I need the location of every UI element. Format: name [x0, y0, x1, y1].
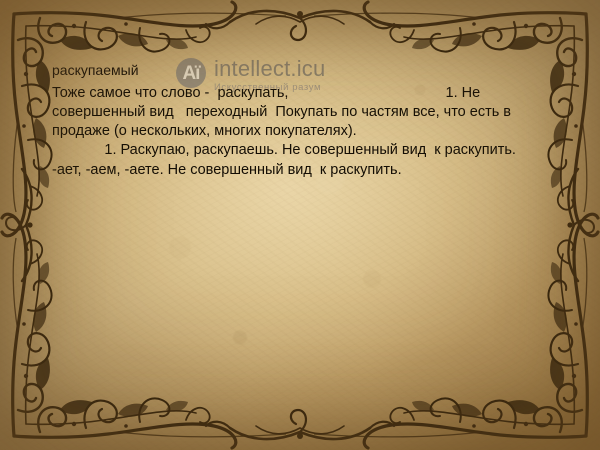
entry-definition-paragraph-2: 1. Раскупаю, раскупаешь. Не совершенный …: [52, 141, 552, 180]
dictionary-page: Aї intellect.icu Искусственный разум рас…: [0, 0, 600, 450]
entry-headword: раскупаемый: [52, 62, 552, 80]
entry-definition-paragraph-1: Тоже самое что слово - раскупать, 1. Не …: [52, 84, 552, 142]
dictionary-entry: раскупаемый Тоже самое что слово - раску…: [52, 62, 552, 180]
